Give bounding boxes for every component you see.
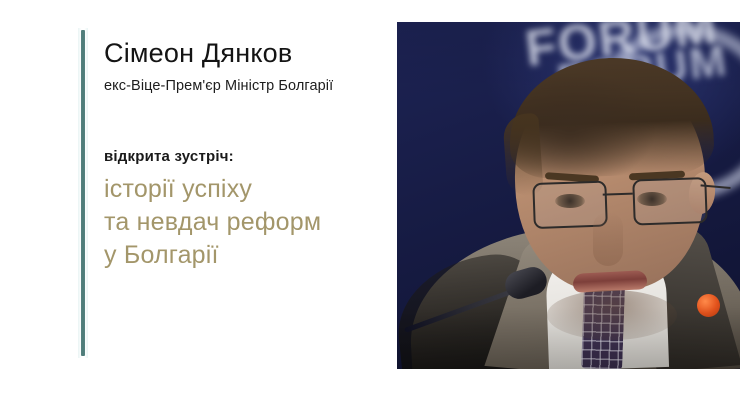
speaker-block: Сімеон Дянков екс-Віце-Прем'єр Міністр Б… [104,38,394,96]
photo-subject [397,22,740,369]
lapel-pin [697,294,720,317]
event-title-line-2: та невдач реформ [104,206,394,239]
nose [593,212,623,266]
event-title-line-1: історії успіху [104,173,394,206]
eyeglass-bridge [603,193,633,196]
eyeglass-lens-right [632,177,708,226]
vertical-teal-rule [81,30,85,356]
speaker-role: екс-Віце-Прем'єр Міністр Болгарії [104,78,394,95]
event-kicker: відкрита зустріч: [104,148,394,167]
speaker-photo: FORUM FORUM [397,22,740,369]
speaker-name: Сімеон Дянков [104,38,394,68]
event-title-line-3: у Болгарії [104,239,394,272]
event-title: історії успіху та невдач реформ у Болгар… [104,173,394,272]
photo-inner: FORUM FORUM [397,22,740,369]
chin-shadow [547,290,677,340]
text-panel: Сімеон Дянков екс-Віце-Прем'єр Міністр Б… [0,0,397,400]
event-block: відкрита зустріч: історії успіху та невд… [104,148,394,272]
event-poster: Сімеон Дянков екс-Віце-Прем'єр Міністр Б… [0,0,740,400]
